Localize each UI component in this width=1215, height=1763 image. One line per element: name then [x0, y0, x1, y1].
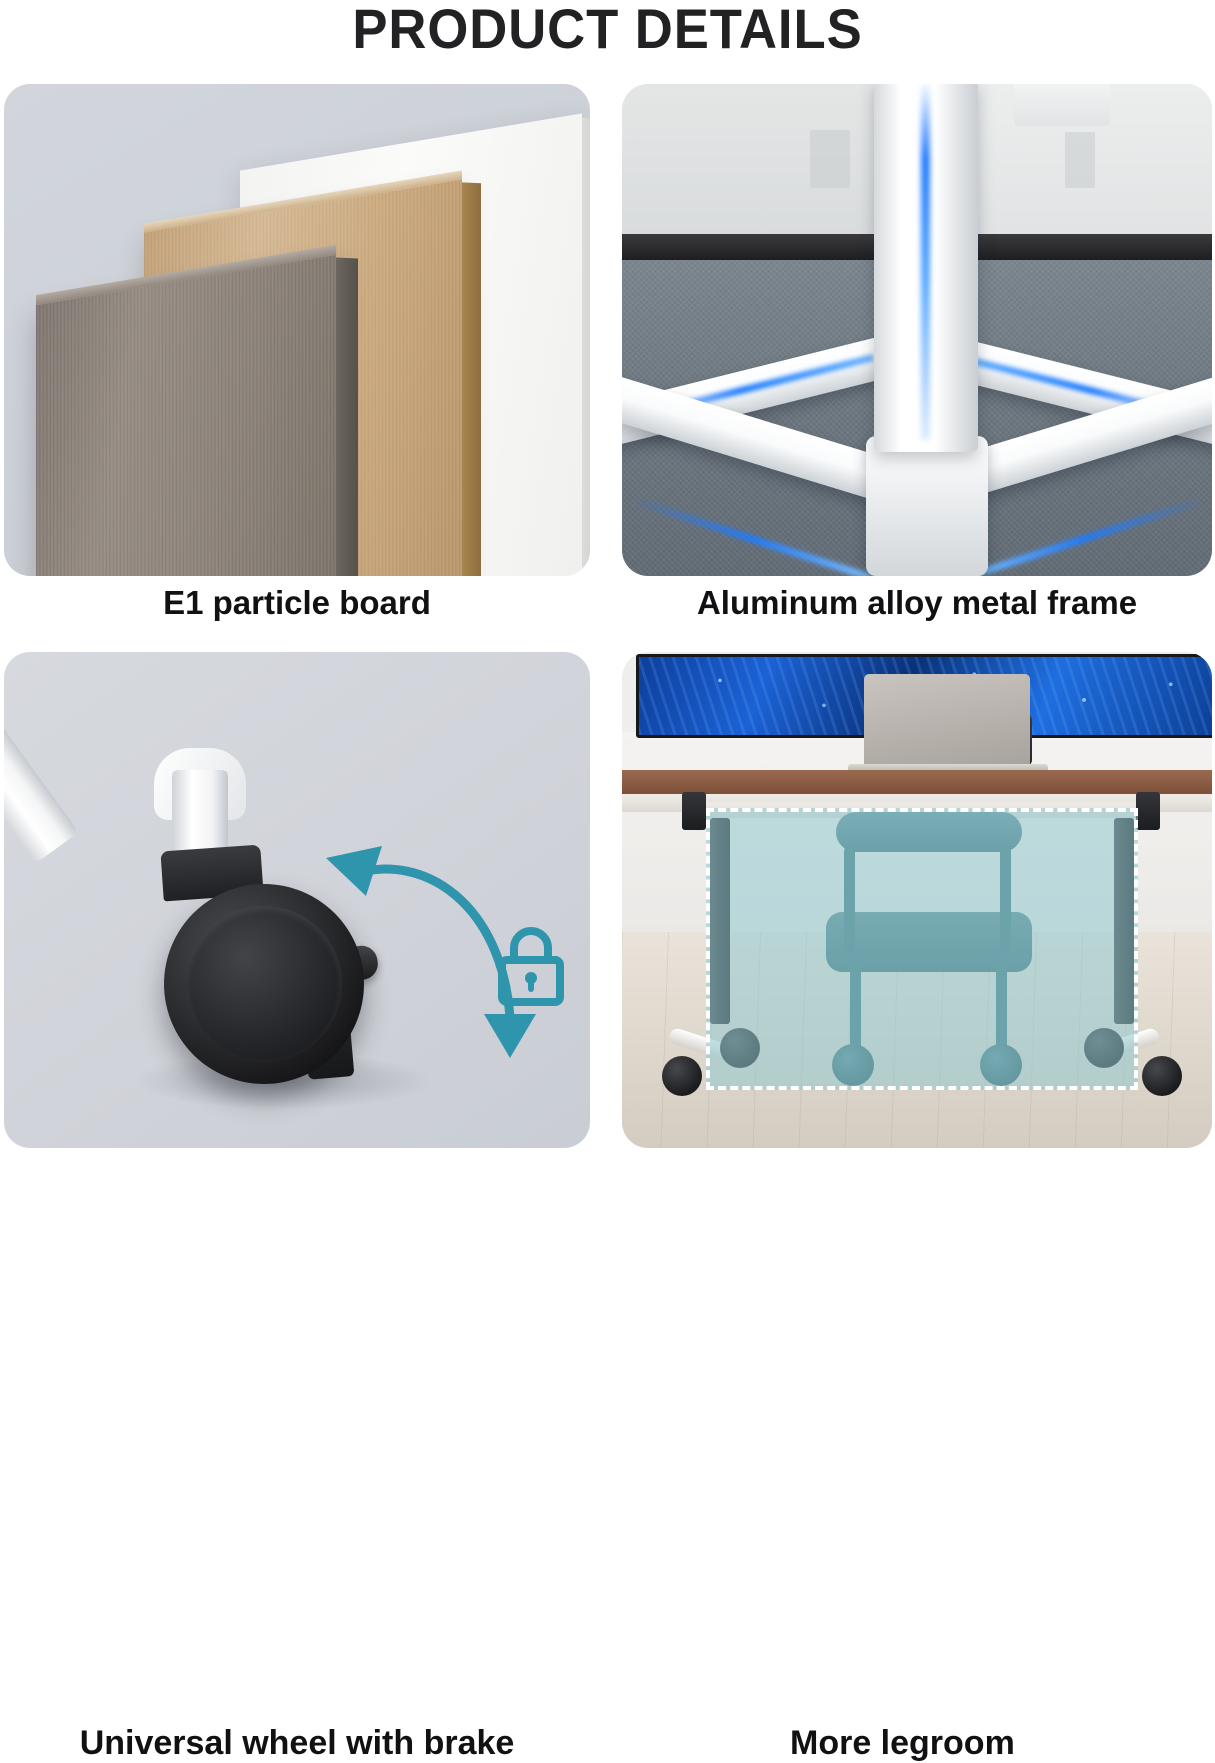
- panel-grid: E1 particle board: [0, 84, 1215, 1205]
- panel-particle-board: E1 particle board: [4, 84, 590, 576]
- panel-universal-wheel: Universal wheel with brake: [4, 652, 590, 1148]
- panel-more-legroom: More legroom: [622, 652, 1212, 1148]
- panel-metal-frame: Aluminum alloy metal frame: [622, 84, 1212, 576]
- caption-more-legroom: More legroom: [622, 1724, 1215, 1763]
- page-title: PRODUCT DETAILS: [36, 0, 1178, 64]
- lock-icon: [492, 924, 570, 1008]
- particle-board-image: [4, 84, 590, 576]
- desk-bracket-left: [682, 792, 706, 830]
- caption-particle-board: E1 particle board: [4, 584, 590, 622]
- desk-bracket-right: [1136, 792, 1160, 830]
- legroom-highlight-area: [706, 808, 1138, 1090]
- laptop-lid: [864, 674, 1030, 766]
- caption-metal-frame: Aluminum alloy metal frame: [622, 584, 1212, 622]
- universal-wheel-image: [4, 652, 590, 1148]
- center-column: [874, 84, 978, 452]
- more-legroom-image: [622, 652, 1212, 1148]
- metal-frame-image: [622, 84, 1212, 576]
- desk-top: [622, 770, 1212, 794]
- frame-hub: [866, 436, 988, 576]
- gray-board: [36, 255, 336, 576]
- product-details-page: PRODUCT DETAILS E1 particle board: [0, 0, 1215, 1205]
- wall-socket: [1014, 84, 1110, 126]
- leg-tube-upper: [4, 662, 79, 864]
- caption-universal-wheel: Universal wheel with brake: [4, 1724, 590, 1763]
